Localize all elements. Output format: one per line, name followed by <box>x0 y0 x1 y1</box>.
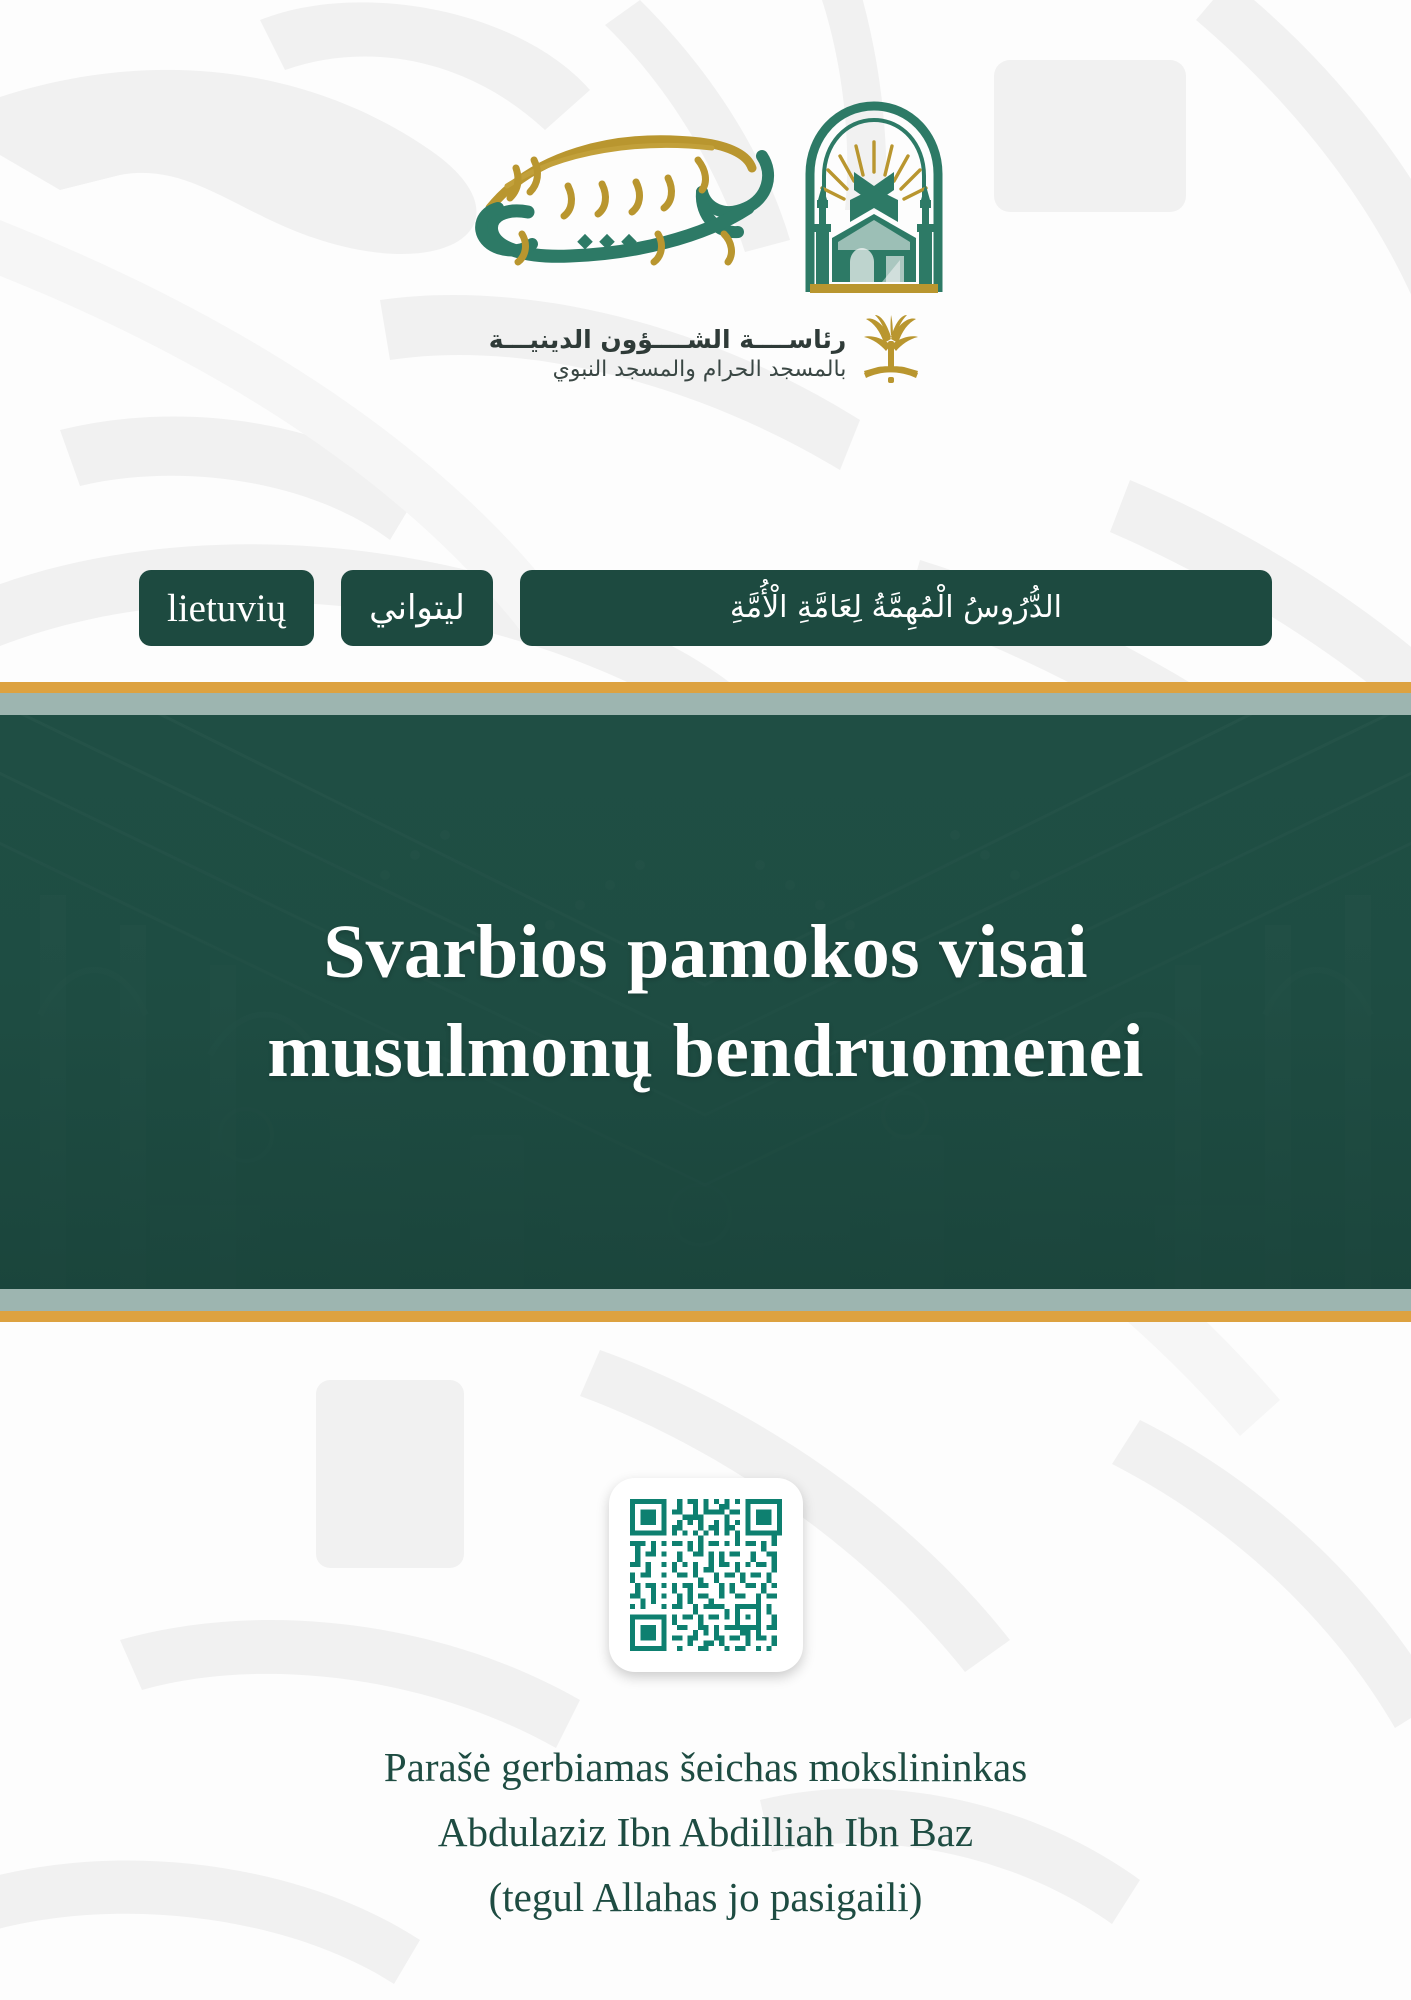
banner-top-gold-rule <box>0 682 1411 693</box>
author-line-3: (tegul Allahas jo pasigaili) <box>0 1865 1411 1930</box>
banner-bottom-gold-rule <box>0 1311 1411 1322</box>
author-credit: Parašė gerbiamas šeichas mokslininkas Ab… <box>0 1735 1411 1929</box>
organization-logo: رئاســــة الشــــؤون الدينيـــة بالمسجد … <box>0 96 1411 394</box>
banner-body: Svarbios pamokos visai musulmonų bendruo… <box>0 715 1411 1289</box>
banner-bottom-sage-rule <box>0 1289 1411 1311</box>
page-title-line-1: Svarbios pamokos visai <box>146 903 1266 1002</box>
haramain-calligraphy <box>462 116 792 301</box>
organization-name-line-1: رئاســــة الشــــؤون الدينيـــة <box>489 324 847 355</box>
qr-code[interactable] <box>609 1478 803 1672</box>
kaaba-arch-emblem <box>798 96 950 301</box>
tag-language-latin[interactable]: lietuvių <box>139 570 314 646</box>
tag-language-arabic[interactable]: ليتواني <box>341 570 493 646</box>
title-banner: Svarbios pamokos visai musulmonų bendruo… <box>0 682 1411 1322</box>
organization-name-text: رئاســــة الشــــؤون الدينيـــة بالمسجد … <box>489 324 847 385</box>
author-line-2: Abdulaziz Ibn Abdilliah Ibn Baz <box>0 1800 1411 1865</box>
page-title: Svarbios pamokos visai musulmonų bendruo… <box>146 903 1266 1101</box>
banner-top-sage-rule <box>0 693 1411 715</box>
author-line-1: Parašė gerbiamas šeichas mokslininkas <box>0 1735 1411 1800</box>
page-title-line-2: musulmonų bendruomenei <box>146 1002 1266 1101</box>
saudi-palm-swords-emblem <box>860 315 922 394</box>
tag-row: lietuvių ليتواني الدُّرُوسُ الْمُهِمَّةُ… <box>0 570 1411 646</box>
organization-name-row: رئاســــة الشــــؤون الدينيـــة بالمسجد … <box>489 315 923 394</box>
book-cover-page: رئاســــة الشــــؤون الدينيـــة بالمسجد … <box>0 0 1411 2000</box>
organization-name-line-2: بالمسجد الحرام والمسجد النبوي <box>489 355 847 385</box>
logo-main-row <box>462 96 950 301</box>
tag-arabic-title[interactable]: الدُّرُوسُ الْمُهِمَّةُ لِعَامَّةِ الْأُ… <box>520 570 1272 646</box>
